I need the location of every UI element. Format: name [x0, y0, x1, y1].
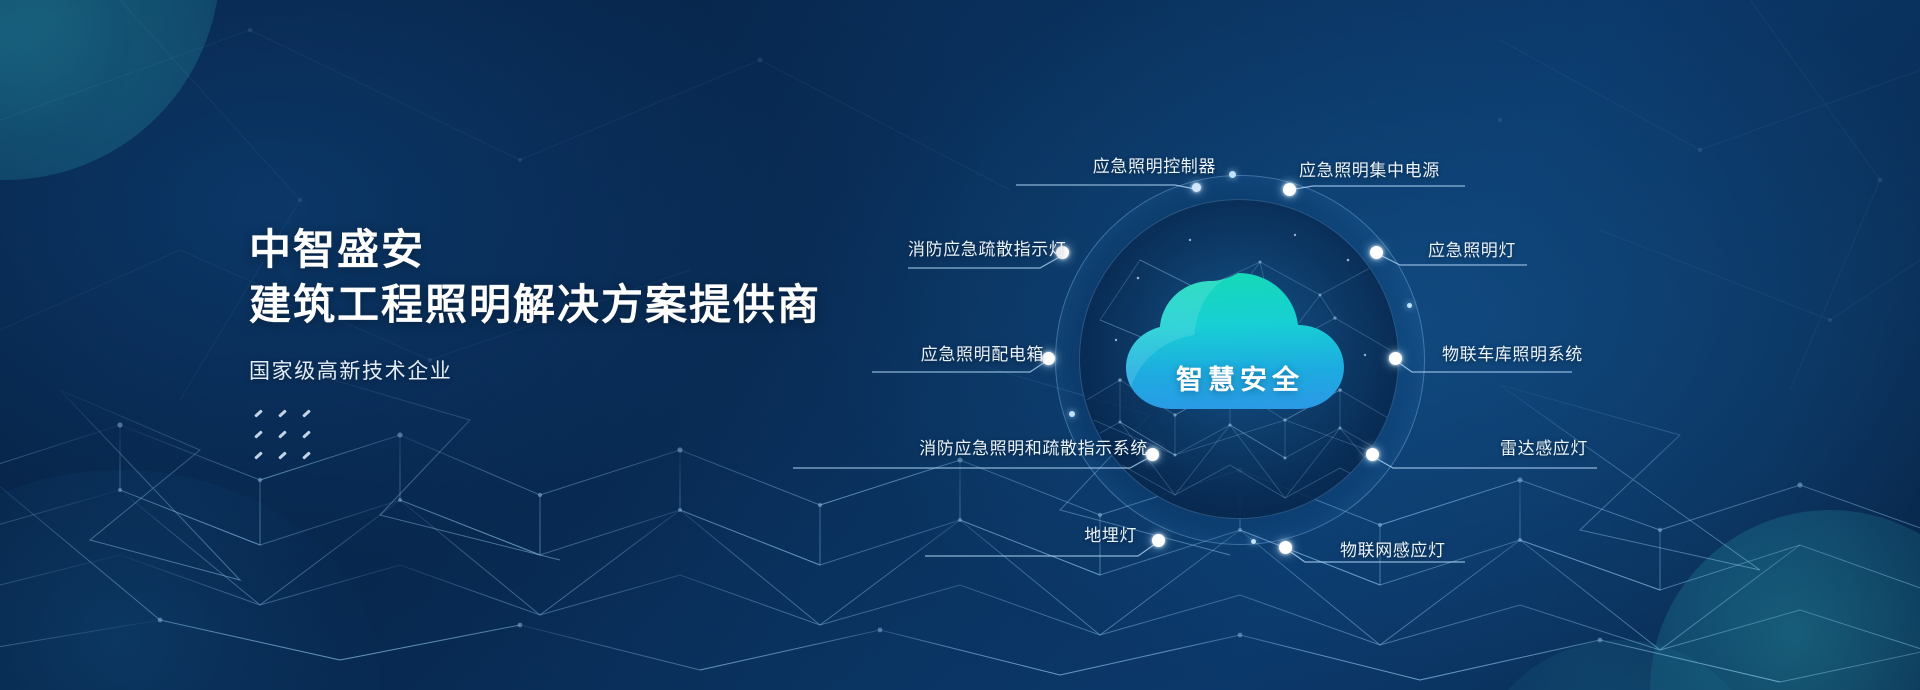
ring-tick-left	[1069, 411, 1075, 417]
ring-tick-bottom	[1251, 539, 1256, 544]
dot-mark	[302, 430, 311, 438]
smart-safety-diagram: 智慧安全	[1055, 175, 1425, 545]
cloud-icon	[1110, 263, 1370, 438]
node-dot-icon[interactable]	[1042, 352, 1055, 365]
page-title-line-2: 建筑工程照明解决方案提供商	[249, 277, 821, 332]
hero-text-block: 中智盛安 建筑工程照明解决方案提供商 国家级高新技术企业	[249, 222, 821, 385]
dot-mark	[254, 451, 263, 459]
hero-banner: 中智盛安 建筑工程照明解决方案提供商 国家级高新技术企业	[0, 0, 1920, 690]
node-label-radar-sensor-light[interactable]: 雷达感应灯	[1500, 434, 1588, 459]
ring-tick-top	[1229, 171, 1236, 178]
page-subtitle: 国家级高新技术企业	[249, 355, 821, 385]
decorative-circle-top-left-small	[0, 0, 130, 170]
node-label-iot-garage-lighting-system[interactable]: 物联车库照明系统	[1442, 340, 1583, 365]
dot-mark	[302, 451, 311, 459]
decorative-glow-bottom-left	[0, 470, 380, 690]
decorative-circle-top-left-large	[0, 0, 220, 180]
decorative-dot-grid	[254, 412, 326, 475]
decorative-circle-bottom-right-small	[1470, 640, 1770, 690]
decorative-circle-bottom-right-large	[1650, 510, 1920, 690]
page-title-line-1: 中智盛安	[249, 222, 821, 277]
center-badge-label: 智慧安全	[1110, 358, 1370, 397]
dot-mark	[302, 409, 311, 417]
dot-mark	[278, 430, 287, 438]
node-label-emergency-lighting-controller[interactable]: 应急照明控制器	[1016, 152, 1216, 177]
cloud-badge: 智慧安全	[1110, 263, 1370, 438]
dot-mark	[278, 409, 287, 417]
node-label-emergency-lighting-lamp[interactable]: 应急照明灯	[1428, 236, 1516, 261]
dot-mark	[254, 430, 263, 438]
node-label-emergency-lighting-distribution-box[interactable]: 应急照明配电箱	[872, 340, 1044, 365]
node-label-fire-emergency-evacuation-indicator-light[interactable]: 消防应急疏散指示灯	[908, 235, 1058, 260]
ring-tick-right	[1407, 303, 1412, 308]
dot-mark	[278, 451, 287, 459]
dot-mark	[254, 409, 263, 417]
